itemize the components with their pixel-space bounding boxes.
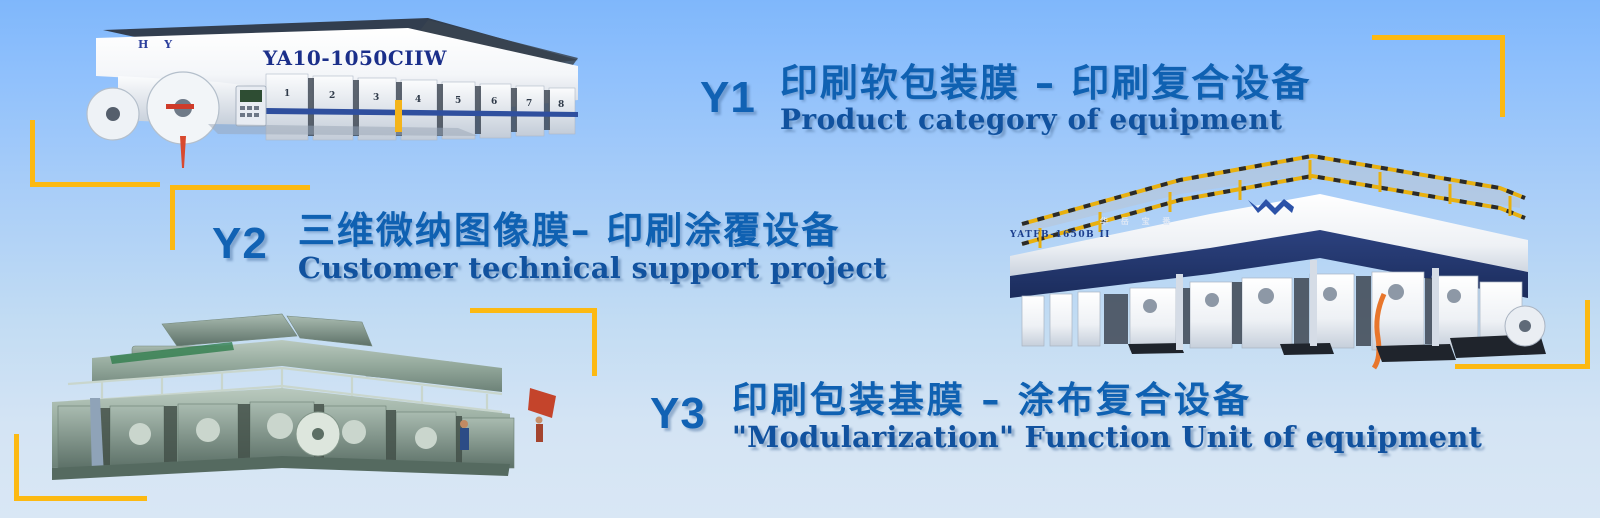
svg-text:1: 1 xyxy=(284,89,290,99)
y1-title-cn: 印刷软包装膜 – 印刷复合设备 xyxy=(780,64,1311,104)
bracket-left-horizontal xyxy=(30,182,160,187)
bracket-bottomleft-horizontal xyxy=(14,496,147,501)
y3-code: Y3 xyxy=(650,382,706,436)
y1-title-en: Product category of equipment xyxy=(780,105,1311,134)
bracket-midright-vertical xyxy=(1585,300,1590,368)
machine2-brand-mark: 华 岳 宝 番 xyxy=(1100,216,1175,227)
y3-title-cn: 印刷包装基膜 – 涂布复合设备 xyxy=(732,382,1482,420)
svg-text:8: 8 xyxy=(558,100,564,110)
machine-image-paper-coating-line xyxy=(32,306,572,491)
machine-image-coating-laminator: YATFB-1650B II 华 岳 宝 番 xyxy=(980,148,1550,370)
y3-title-en: "Modularization" Function Unit of equipm… xyxy=(732,422,1482,452)
text-group-y2: Y2 三维微纳图像膜– 印刷涂覆设备 Customer technical su… xyxy=(212,212,887,283)
svg-text:5: 5 xyxy=(455,96,461,106)
bracket-left-vertical xyxy=(30,120,35,186)
svg-text:3: 3 xyxy=(373,93,379,103)
y2-title-en: Customer technical support project xyxy=(298,253,887,283)
y2-code: Y2 xyxy=(212,212,268,266)
bracket-y2-horizontal xyxy=(170,185,310,190)
coating-laminator-illustration xyxy=(980,148,1550,370)
svg-text:6: 6 xyxy=(491,97,497,107)
svg-text:7: 7 xyxy=(526,99,532,109)
machine1-model-label: YA10-1050CIIW xyxy=(263,46,447,70)
y2-title-cn: 三维微纳图像膜– 印刷涂覆设备 xyxy=(298,212,887,251)
bracket-topright-horizontal xyxy=(1372,35,1504,40)
text-group-y3: Y3 印刷包装基膜 – 涂布复合设备 "Modularization" Func… xyxy=(650,382,1482,452)
bracket-y3-vertical xyxy=(592,308,597,376)
bracket-bottomleft-vertical xyxy=(14,434,19,500)
text-group-y1: Y1 印刷软包装膜 – 印刷复合设备 Product category of e… xyxy=(700,64,1311,134)
svg-text:2: 2 xyxy=(329,91,335,101)
machine2-model-label: YATFB-1650B II xyxy=(1010,230,1111,240)
bracket-y2-vertical xyxy=(170,185,175,250)
bracket-topright-vertical xyxy=(1500,35,1505,117)
y1-code: Y1 xyxy=(700,64,756,120)
machine1-brand-mark: H Y xyxy=(138,38,178,51)
paper-coating-line-illustration xyxy=(32,306,572,491)
banner-canvas: 123 456 78 H Y YA10-1050CIIW xyxy=(0,0,1600,518)
machine-image-rotogravure-press: 123 456 78 H Y YA10-1050CIIW xyxy=(58,8,623,178)
rotogravure-press-illustration: 123 456 78 xyxy=(58,8,623,178)
svg-text:4: 4 xyxy=(415,95,421,105)
